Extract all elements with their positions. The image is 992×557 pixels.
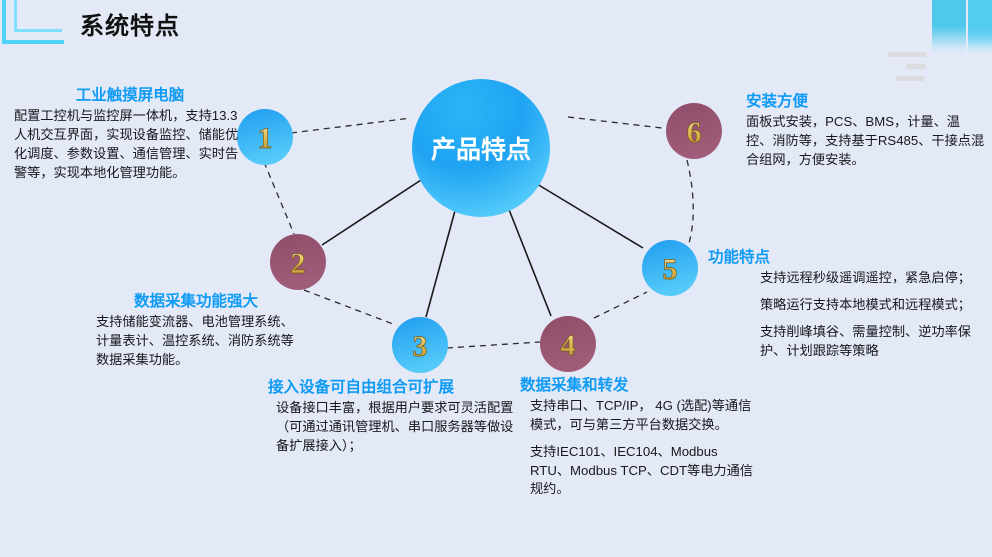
node-4-number: 4 [561,329,576,362]
feature-block-4-text: 支持IEC101、IEC104、Modbus RTU、Modbus TCP、CD… [530,443,758,499]
feature-block-2-text: 支持储能变流器、电池管理系统、计量表计、温控系统、消防系统等数据采集功能。 [96,313,296,369]
node-6-number: 6 [687,116,702,149]
feature-block-3-text: 设备接口丰富，根据用户要求可灵活配置（可通过通讯管理机、串口服务器等做设备扩展接… [276,399,516,455]
node-1-number: 1 [258,122,273,155]
feature-block-2: 数据采集功能强大 支持储能变流器、电池管理系统、计量表计、温控系统、消防系统等数… [96,292,296,370]
feature-block-3: 接入设备可自由组合可扩展 设备接口丰富，根据用户要求可灵活配置（可通过通讯管理机… [268,378,516,456]
node-6[interactable]: 6 [666,103,722,159]
center-node-label: 产品特点 [431,136,531,164]
feature-block-2-heading: 数据采集功能强大 [96,292,296,311]
slide-canvas: 系统特点 [0,0,992,557]
feature-block-5: 功能特点 支持远程秒级遥调遥控，紧急启停； 策略运行支持本地模式和远程模式； 支… [708,248,984,360]
node-4[interactable]: 4 [540,316,596,372]
feature-block-1-text: 配置工控机与监控屏一体机，支持13.3人机交互界面，实现设备监控、储能优化调度、… [14,107,246,182]
feature-block-5-text: 支持削峰填谷、需量控制、逆功率保护、计划跟踪等策略 [760,323,984,360]
node-5-number: 5 [663,253,678,286]
node-2[interactable]: 2 [270,234,326,290]
feature-block-4: 数据采集和转发 支持串口、TCP/IP， 4G (选配)等通信模式，可与第三方平… [520,376,758,499]
feature-block-1-heading: 工业触摸屏电脑 [14,86,246,105]
feature-block-5-heading: 功能特点 [708,248,984,267]
feature-block-5-text: 支持远程秒级遥调遥控，紧急启停； [760,269,984,288]
feature-block-4-text: 支持串口、TCP/IP， 4G (选配)等通信模式，可与第三方平台数据交换。 [530,397,758,434]
feature-block-6-text: 面板式安装，PCS、BMS，计量、温控、消防等，支持基于RS485、干接点混合组… [746,113,986,169]
node-2-number: 2 [291,247,306,280]
node-5[interactable]: 5 [642,240,698,296]
feature-block-6-heading: 安装方便 [746,92,986,111]
feature-block-1: 工业触摸屏电脑 配置工控机与监控屏一体机，支持13.3人机交互界面，实现设备监控… [14,86,246,182]
node-3[interactable]: 3 [392,317,448,373]
feature-block-3-heading: 接入设备可自由组合可扩展 [268,378,516,397]
node-3-number: 3 [413,330,428,363]
feature-block-6: 安装方便 面板式安装，PCS、BMS，计量、温控、消防等，支持基于RS485、干… [746,92,986,170]
feature-block-5-text: 策略运行支持本地模式和远程模式； [760,296,984,315]
feature-block-4-heading: 数据采集和转发 [520,376,758,395]
